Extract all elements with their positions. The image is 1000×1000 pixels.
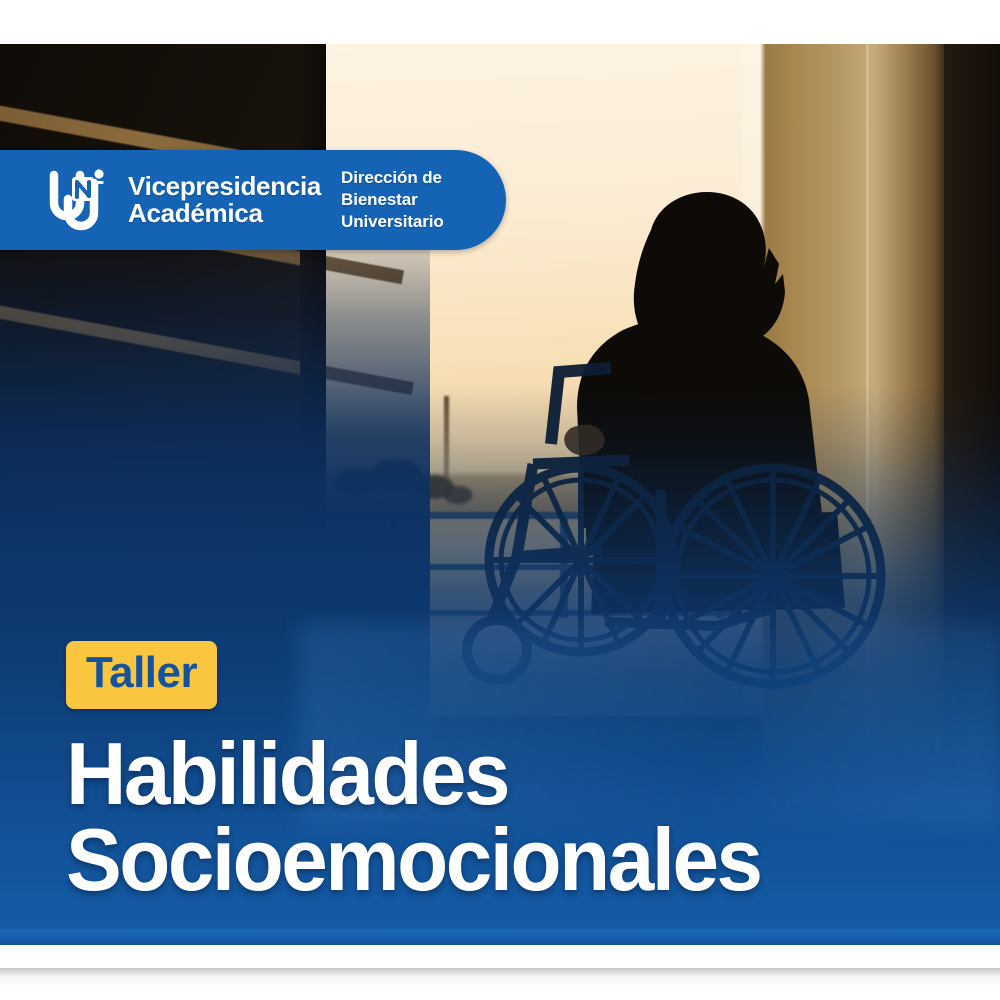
- poster-title-line1: Habilidades: [66, 724, 508, 823]
- banner-organization: Vicepresidencia Académica: [128, 173, 321, 227]
- banner-unit-line1: Dirección de: [341, 167, 444, 189]
- banner-unit: Dirección de Bienestar Universitario: [341, 167, 444, 232]
- poster-card: Vicepresidencia Académica Dirección de B…: [0, 44, 1000, 945]
- poster-page: Vicepresidencia Académica Dirección de B…: [0, 0, 1000, 1000]
- unj-monogram-logo-icon: [42, 163, 116, 237]
- event-type-badge: Taller: [66, 641, 217, 709]
- institution-banner: Vicepresidencia Académica Dirección de B…: [0, 150, 506, 250]
- banner-org-line2: Académica: [128, 200, 321, 227]
- banner-unit-line2: Bienestar: [341, 189, 444, 211]
- card-drop-shadow: [0, 968, 1000, 988]
- banner-org-line1: Vicepresidencia: [128, 173, 321, 200]
- poster-title-line2: Socioemocionales: [66, 817, 902, 903]
- bottom-blue-bar: [0, 929, 1000, 945]
- banner-unit-line3: Universitario: [341, 211, 444, 233]
- title-block: Taller Habilidades Socioemocionales: [66, 641, 946, 903]
- poster-title: Habilidades Socioemocionales: [66, 731, 902, 903]
